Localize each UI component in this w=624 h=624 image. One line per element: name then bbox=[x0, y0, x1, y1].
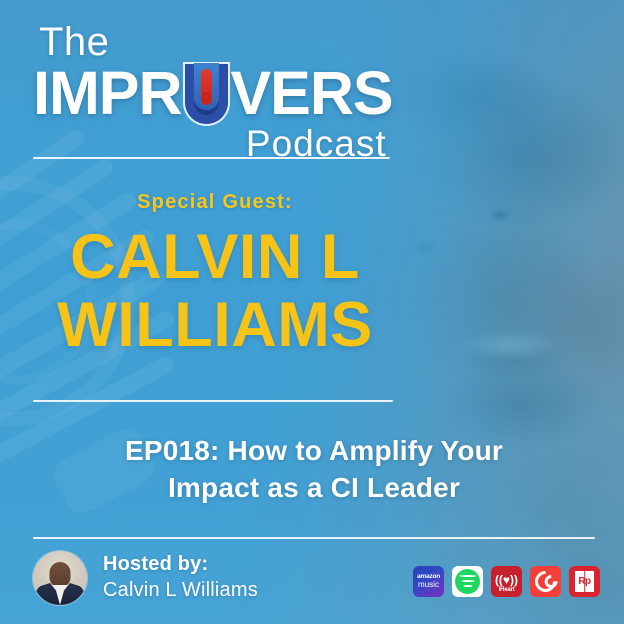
amazon-music-line2: music bbox=[418, 581, 439, 589]
episode-title: EP018: How to Amplify Your Impact as a C… bbox=[40, 433, 588, 507]
pocket-casts-icon[interactable] bbox=[530, 566, 561, 597]
special-guest-label: Special Guest: bbox=[0, 191, 430, 214]
episode-title-line-1: EP018: How to Amplify Your bbox=[40, 433, 588, 470]
podcast-logo: The IMPR VERS Podcast bbox=[33, 22, 393, 162]
avatar bbox=[33, 551, 87, 605]
logo-wordmark-part1: IMPR bbox=[33, 64, 182, 124]
episode-title-line-2: Impact as a CI Leader bbox=[40, 470, 588, 507]
logo-the-text: The bbox=[39, 22, 393, 62]
guest-name-line-2: WILLIAMS bbox=[0, 291, 430, 359]
platform-badges: amazon music ((♥)) iHeart Rp bbox=[413, 566, 600, 597]
divider-top bbox=[33, 157, 390, 159]
podcast-cover-art: The IMPR VERS Podcast Special Guest: CAL… bbox=[0, 0, 624, 624]
divider-bottom bbox=[33, 537, 595, 539]
host-name: Calvin L Williams bbox=[103, 579, 258, 603]
iheart-mark: ((♥)) bbox=[495, 574, 518, 586]
radiopublic-icon[interactable]: Rp bbox=[569, 566, 600, 597]
guest-name: CALVIN L WILLIAMS bbox=[0, 223, 430, 359]
logo-wordmark: IMPR VERS bbox=[33, 64, 393, 124]
host-credit: Hosted by: Calvin L Williams bbox=[33, 551, 258, 605]
spotify-icon[interactable] bbox=[452, 566, 483, 597]
hosted-by-label: Hosted by: bbox=[103, 553, 258, 577]
logo-wordmark-part2: VERS bbox=[231, 64, 393, 124]
amazon-music-icon[interactable]: amazon music bbox=[413, 566, 444, 597]
iheart-radio-icon[interactable]: ((♥)) iHeart bbox=[491, 566, 522, 597]
radiopublic-label: Rp bbox=[575, 571, 594, 592]
iheart-label: iHeart bbox=[499, 587, 515, 593]
guest-name-line-1: CALVIN L bbox=[0, 223, 430, 291]
divider-middle bbox=[33, 400, 393, 402]
logo-microphone-u-icon bbox=[183, 64, 230, 126]
